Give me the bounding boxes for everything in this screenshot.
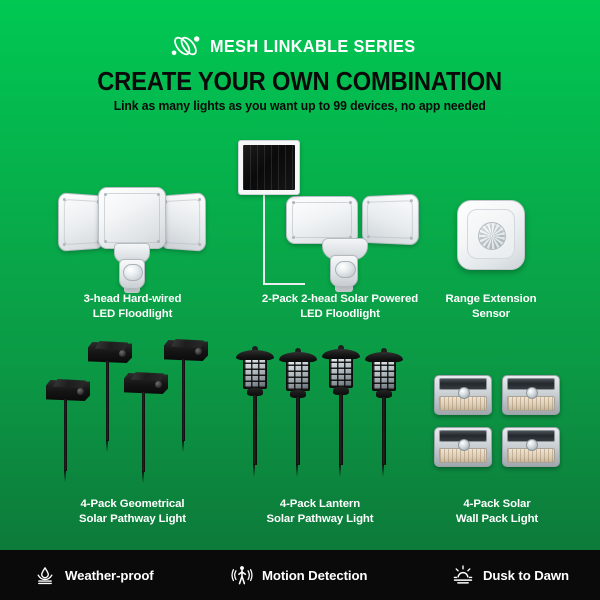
brand-title: MESH LINKABLE SERIES <box>210 36 415 57</box>
sunrise-horizon-icon <box>452 564 474 586</box>
product-image-range-extension-sensor <box>457 200 525 270</box>
wall-pack-light-icon <box>434 375 492 415</box>
page-headline: CREATE YOUR OWN COMBINATION <box>0 68 600 97</box>
feature-label: Dusk to Dawn <box>483 568 569 583</box>
page-subhead: Link as many lights as you want up to 99… <box>0 99 600 113</box>
feature-bar: Weather-proof Motion Detection <box>0 550 600 600</box>
caption-hardwired-floodlight: 3-head Hard-wired LED Floodlight <box>35 292 230 322</box>
caption-line-1: 4-Pack Lantern <box>232 497 408 512</box>
caption-geometrical-pathway-light: 4-Pack Geometrical Solar Pathway Light <box>35 497 230 527</box>
solar-cells <box>243 145 295 190</box>
feature-motion-detection: Motion Detection <box>231 564 367 586</box>
feature-dusk-to-dawn: Dusk to Dawn <box>452 564 569 586</box>
caption-range-extension-sensor: Range Extension Sensor <box>421 292 561 322</box>
feature-weather-proof: Weather-proof <box>34 564 154 586</box>
solar-cable-vertical <box>263 195 265 285</box>
caption-line-1: 3-head Hard-wired <box>35 292 230 307</box>
solar-floodlight-motion-sensor <box>330 255 358 287</box>
solar-floodlight-head-left <box>286 196 358 244</box>
caption-solar-wall-pack-light: 4-Pack Solar Wall Pack Light <box>432 497 562 527</box>
infographic-page: MESH LINKABLE SERIES CREATE YOUR OWN COM… <box>0 0 600 600</box>
caption-line-2: Solar Pathway Light <box>35 512 230 527</box>
page-subhead-text: Link as many lights as you want up to 99… <box>114 99 486 113</box>
product-image-solar-wall-pack-light <box>434 375 560 475</box>
water-drop-waves-icon <box>34 564 56 586</box>
floodlight-head-center <box>98 187 166 249</box>
caption-line-2: Solar Pathway Light <box>232 512 408 527</box>
brand-row: MESH LINKABLE SERIES <box>0 33 600 59</box>
caption-line-2: Wall Pack Light <box>432 512 562 527</box>
caption-line-1: Range Extension <box>421 292 561 307</box>
floodlight-motion-sensor <box>119 259 145 289</box>
wall-pack-light-icon <box>502 375 560 415</box>
solar-floodlight-head-right <box>362 194 419 246</box>
product-image-solar-floodlight <box>238 140 388 290</box>
feature-label: Weather-proof <box>65 568 154 583</box>
floodlight-head-left <box>58 192 103 252</box>
caption-lantern-pathway-light: 4-Pack Lantern Solar Pathway Light <box>232 497 408 527</box>
solar-panel <box>238 140 300 195</box>
solar-cable-horizontal <box>263 283 305 285</box>
sensor-body <box>457 200 525 270</box>
wall-pack-light-icon <box>502 427 560 467</box>
caption-line-2: LED Floodlight <box>35 307 230 322</box>
wall-pack-light-icon <box>434 427 492 467</box>
mesh-network-icon <box>169 33 201 59</box>
product-image-geometrical-pathway-light <box>38 336 210 488</box>
product-image-hardwired-floodlight <box>60 185 205 290</box>
feature-label: Motion Detection <box>262 568 367 583</box>
pir-lens-icon <box>478 222 506 250</box>
page-headline-text: CREATE YOUR OWN COMBINATION <box>98 68 503 97</box>
caption-line-1: 4-Pack Geometrical <box>35 497 230 512</box>
product-image-lantern-pathway-light <box>236 340 404 488</box>
caption-line-2: Sensor <box>421 307 561 322</box>
caption-line-1: 4-Pack Solar <box>432 497 562 512</box>
floodlight-head-right <box>161 192 206 252</box>
walking-person-motion-icon <box>231 564 253 586</box>
